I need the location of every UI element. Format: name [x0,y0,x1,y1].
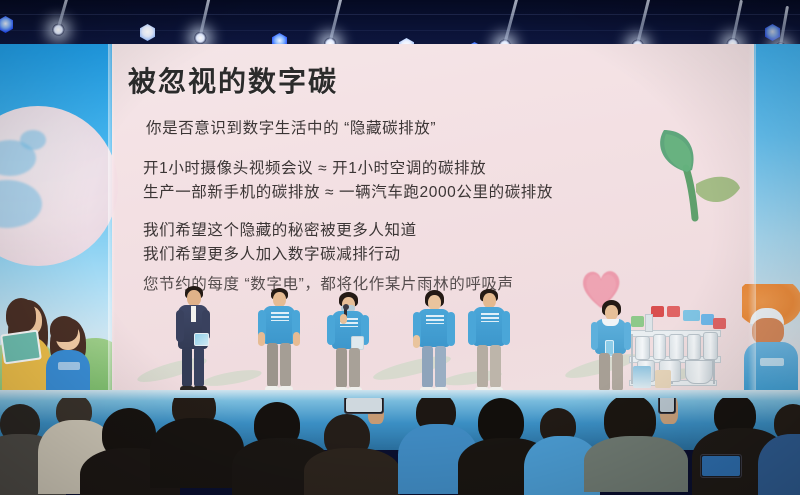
exhibit-tag [667,306,680,317]
award-plaque [194,333,209,346]
exhibit-tag [713,318,726,329]
slide-line-3: 生产一部新手机的碳排放 ≈ 一辆汽车跑2000公里的碳排放 [143,180,553,202]
industrial-equipment-model [627,300,722,390]
smartphone-icon [344,398,384,414]
spotlight-beam-icon [198,0,211,39]
spotlight-beam-icon [635,0,650,47]
smartphone-icon [700,454,742,478]
exhibit-tag [683,310,700,321]
person-presenter-1 [258,288,300,394]
person-presenter-2-with-microphone [327,292,369,394]
slide-title: 被忽视的数字碳 [128,60,338,100]
spotlight-beam-icon [328,0,343,45]
spotlight-beam-icon [778,6,789,50]
person-host-in-suit [172,286,216,394]
slide-line-2: 开1小时摄像头视频会议 ≈ 开1小时空调的碳排放 [143,156,486,178]
person-presenter-4 [468,289,510,394]
hex-light-icon [765,24,780,41]
person-presenter-3 [413,290,455,394]
slide-line-4: 我们希望这个隐藏的秘密被更多人知道 [143,218,417,240]
smartphone-icon [658,398,676,414]
spotlight-beam-icon [56,0,69,31]
exhibit-tag [631,316,644,327]
stage-photo: 被忽视的数字碳 你是否意识到数字生活中的 “隐藏碳排放” 开1小时摄像头视频会议… [0,0,800,495]
slide-line-1: 你是否意识到数字生活中的 “隐藏碳排放” [146,116,436,138]
slide-line-5: 我们希望更多人加入数字碳减排行动 [143,242,401,264]
hex-light-icon [140,24,155,41]
person-presenter-5 [591,300,631,396]
spotlight-beam-icon [730,0,742,45]
spotlight-beam-icon [503,0,519,47]
audience-silhouettes [0,398,800,495]
